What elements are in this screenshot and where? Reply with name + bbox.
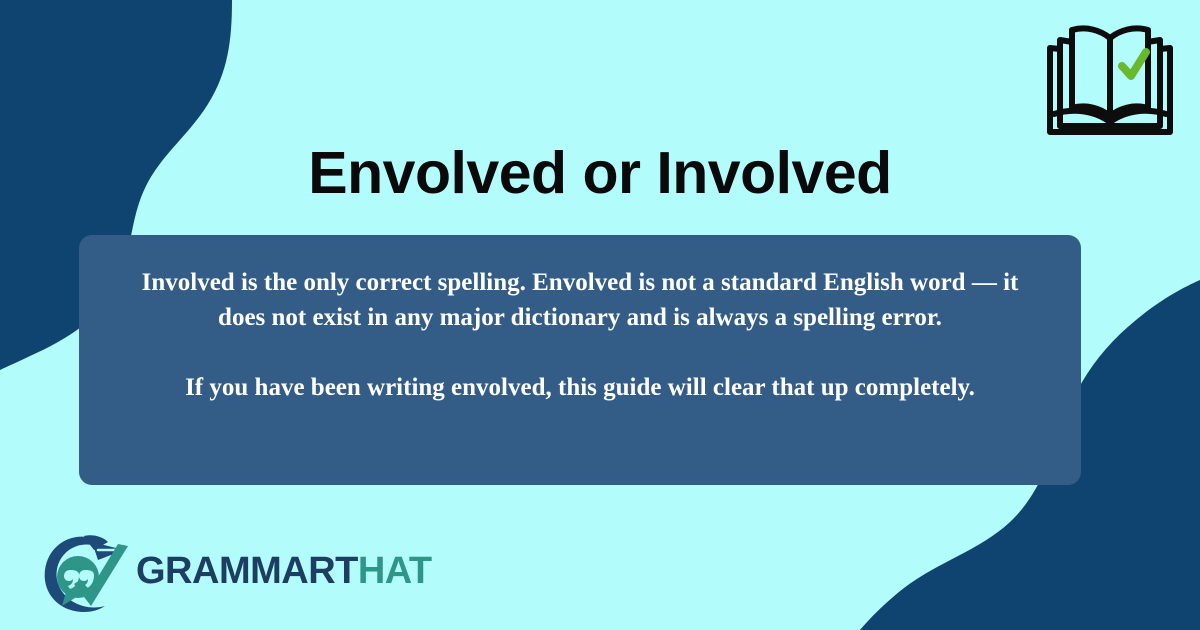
open-book-with-check-icon (1046, 22, 1174, 136)
logo-word-teal: HAT (358, 550, 432, 592)
content-card: Involved is the only correct spelling. E… (79, 235, 1081, 485)
infographic-canvas: Envolved or Involved Involved is the onl… (0, 0, 1200, 630)
card-paragraph-1: Involved is the only correct spelling. E… (131, 265, 1029, 335)
page-title: Envolved or Involved (0, 141, 1200, 206)
card-paragraph-2: If you have been writing envolved, this … (131, 370, 1029, 405)
logo-mark-icon (40, 528, 132, 614)
grammarthat-logo: GRAMMARTHAT (40, 528, 432, 614)
logo-wordmark: GRAMMARTHAT (136, 552, 432, 590)
logo-word-dark: GRAMMART (136, 550, 358, 592)
